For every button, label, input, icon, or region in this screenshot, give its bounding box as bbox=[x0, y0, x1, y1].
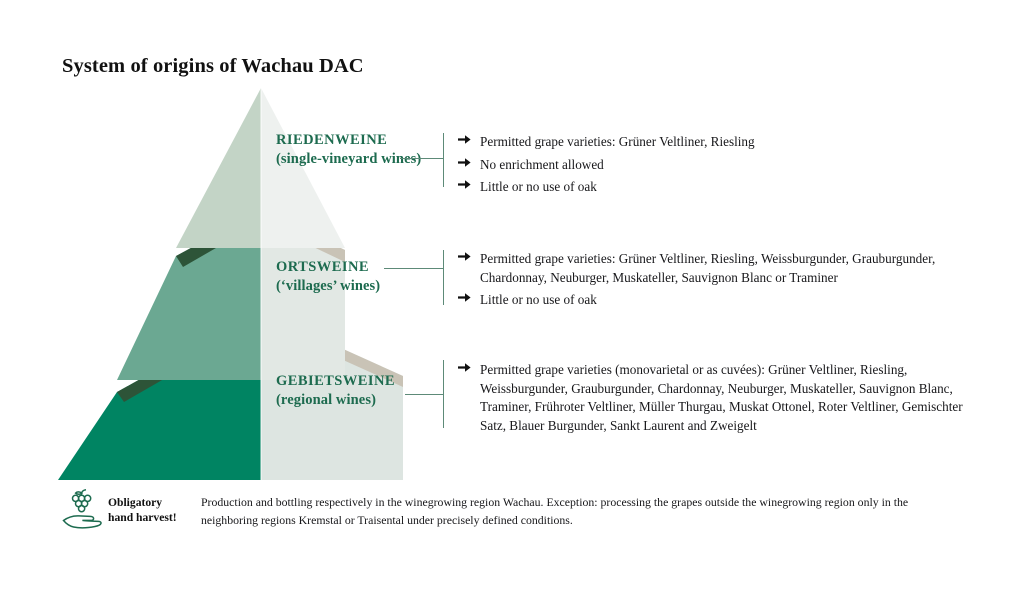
arrow-bullet-icon bbox=[458, 361, 480, 373]
list-item-text: Permitted grape varieties (monovarietal … bbox=[480, 361, 990, 436]
tier-name: RIEDENWEINE bbox=[276, 131, 421, 150]
tier-name: GEBIETSWEINE bbox=[276, 372, 395, 391]
connector-line-riedenweine bbox=[400, 158, 443, 159]
grapes-in-hand-icon bbox=[60, 487, 104, 533]
arrow-bullet-icon bbox=[458, 291, 480, 303]
list-item-text: Little or no use of oak bbox=[480, 291, 597, 310]
list-item-text: Permitted grape varieties: Grüner Veltli… bbox=[480, 133, 755, 152]
details-riedenweine: Permitted grape varieties: Grüner Veltli… bbox=[458, 133, 755, 201]
arrow-bullet-icon bbox=[458, 178, 480, 190]
pyramid-label-riedenweine: RIEDENWEINE (single-vineyard wines) bbox=[276, 131, 421, 168]
details-ortsweine: Permitted grape varieties: Grüner Veltli… bbox=[458, 250, 980, 314]
list-item-text: No enrichment allowed bbox=[480, 156, 604, 175]
arrow-bullet-icon bbox=[458, 133, 480, 145]
list-item: No enrichment allowed bbox=[458, 156, 755, 175]
list-item-text: Little or no use of oak bbox=[480, 178, 597, 197]
connector-line-ortsweine bbox=[384, 268, 443, 269]
footer-note: Production and bottling respectively in … bbox=[201, 494, 941, 530]
connector-bar-ortsweine bbox=[443, 250, 444, 305]
arrow-bullet-icon bbox=[458, 250, 480, 262]
pyramid-label-gebietsweine: GEBIETSWEINE (regional wines) bbox=[276, 372, 395, 409]
tier-name: ORTSWEINE bbox=[276, 258, 380, 277]
page-title: System of origins of Wachau DAC bbox=[62, 55, 364, 78]
connector-bar-gebietsweine bbox=[443, 360, 444, 428]
pyramid-tier-riedenweine-left-face bbox=[176, 88, 261, 248]
pyramid-label-ortsweine: ORTSWEINE (‘villages’ wines) bbox=[276, 258, 380, 295]
harvest-line-1: Obligatory bbox=[108, 495, 177, 510]
details-gebietsweine: Permitted grape varieties (monovarietal … bbox=[458, 361, 990, 440]
list-item: Permitted grape varieties (monovarietal … bbox=[458, 361, 990, 436]
harvest-line-2: hand harvest! bbox=[108, 510, 177, 525]
list-item: Permitted grape varieties: Grüner Veltli… bbox=[458, 133, 755, 152]
list-item: Little or no use of oak bbox=[458, 291, 980, 310]
tier-subtitle: (‘villages’ wines) bbox=[276, 277, 380, 296]
tier-subtitle: (regional wines) bbox=[276, 391, 395, 410]
obligatory-hand-harvest-badge: Obligatory hand harvest! bbox=[60, 487, 177, 533]
list-item: Little or no use of oak bbox=[458, 178, 755, 197]
arrow-bullet-icon bbox=[458, 156, 480, 168]
connector-bar-riedenweine bbox=[443, 133, 444, 187]
connector-line-gebietsweine bbox=[405, 394, 443, 395]
harvest-badge-text: Obligatory hand harvest! bbox=[108, 495, 177, 526]
list-item-text: Permitted grape varieties: Grüner Veltli… bbox=[480, 250, 980, 287]
list-item: Permitted grape varieties: Grüner Veltli… bbox=[458, 250, 980, 287]
